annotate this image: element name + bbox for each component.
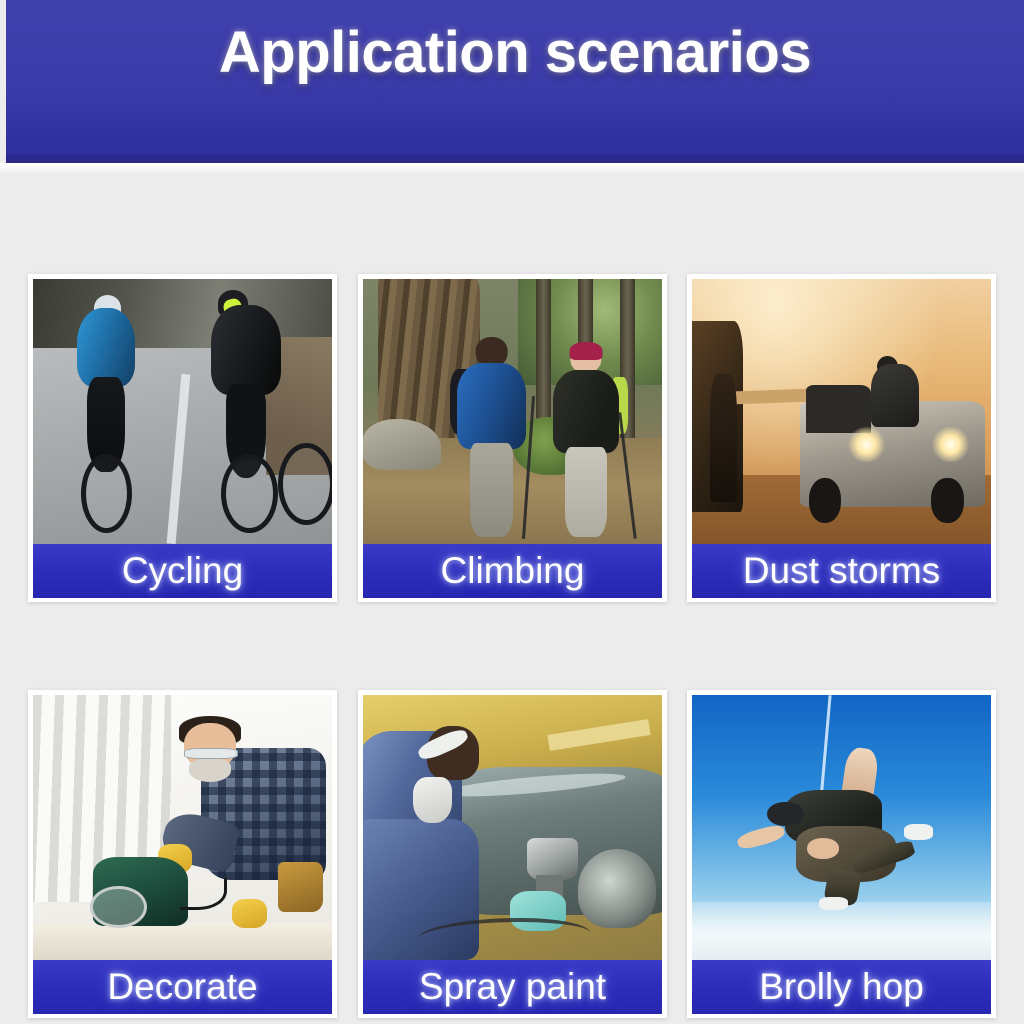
cloud-layer [692, 902, 991, 960]
cyclist-torso [77, 308, 135, 387]
scenario-photo-climbing [363, 279, 662, 544]
worker-silhouette [710, 374, 737, 501]
bicycle-wheel [278, 443, 332, 525]
scenario-card-cycling[interactable]: Cycling [28, 274, 337, 602]
truck-cab [806, 385, 872, 433]
scenario-caption-bar: Cycling [33, 544, 332, 598]
cyclist-blue-jersey [72, 308, 141, 472]
scenario-photo-decorate [33, 695, 332, 960]
scenario-row-1: Cycling [28, 274, 996, 602]
hiker-trousers [565, 447, 607, 537]
bandana [569, 342, 602, 361]
scenario-photo-dust-storms [692, 279, 991, 544]
safety-goggles [184, 748, 238, 759]
tandem-skydivers [752, 780, 937, 902]
scenario-label: Cycling [122, 550, 243, 592]
scenario-photo-brolly-hop [692, 695, 991, 960]
cyclist-torso [211, 305, 280, 395]
truck-wheel [809, 478, 842, 523]
scenario-card-dust-storms[interactable]: Dust storms [687, 274, 996, 602]
scenario-label: Decorate [107, 966, 257, 1008]
respirator-mask [413, 777, 451, 823]
driver-torso [871, 364, 919, 428]
hiker-trousers [470, 443, 514, 537]
tool-belt [278, 862, 323, 912]
cyclist-black-jacket [206, 298, 287, 478]
scenario-caption-bar: Spray paint [363, 960, 662, 1014]
beard [189, 759, 231, 782]
hiker-jacket [457, 363, 525, 449]
scenario-label: Dust storms [743, 550, 940, 592]
scenario-photo-spray-paint [363, 695, 662, 960]
scenario-caption-bar: Dust storms [692, 544, 991, 598]
rock [363, 419, 441, 469]
headlight-glow [847, 427, 886, 461]
bicycle-wheel [221, 454, 278, 534]
passenger-head [807, 838, 839, 859]
spray-gun-cup [527, 838, 578, 880]
hiker-blue-jacket [453, 337, 531, 533]
scenario-photo-cycling [33, 279, 332, 544]
scenario-caption-bar: Climbing [363, 544, 662, 598]
scenario-card-brolly-hop[interactable]: Brolly hop [687, 690, 996, 1018]
bicycle-wheel [81, 454, 132, 534]
headlight-glow [931, 427, 970, 461]
shoe [904, 824, 934, 840]
scenario-card-decorate[interactable]: Decorate [28, 690, 337, 1018]
header-banner: Application scenarios [6, 0, 1024, 163]
scenario-caption-bar: Decorate [33, 960, 332, 1014]
scenario-row-2: Decorate [28, 690, 996, 1018]
scenario-label: Brolly hop [759, 966, 924, 1008]
header-divider-gap [0, 163, 1024, 173]
hiker-red-bandana [548, 345, 623, 533]
saw-blade [90, 886, 147, 928]
page-title: Application scenarios [6, 19, 1024, 86]
work-glove [232, 899, 267, 929]
helmet [767, 802, 804, 826]
scenario-grid: Cycling [28, 274, 996, 1018]
scenario-label: Climbing [441, 550, 585, 592]
shoe [819, 897, 849, 910]
outstretched-arm [736, 822, 787, 851]
scenario-card-climbing[interactable]: Climbing [358, 274, 667, 602]
scenario-card-spray-paint[interactable]: Spray paint [358, 690, 667, 1018]
wheel-arch [578, 849, 656, 929]
application-scenarios-infographic: Application scenarios [0, 0, 1024, 1024]
scenario-label: Spray paint [419, 966, 606, 1008]
truck-wheel [931, 478, 964, 523]
hiker-jacket [553, 370, 619, 453]
scenario-caption-bar: Brolly hop [692, 960, 991, 1014]
